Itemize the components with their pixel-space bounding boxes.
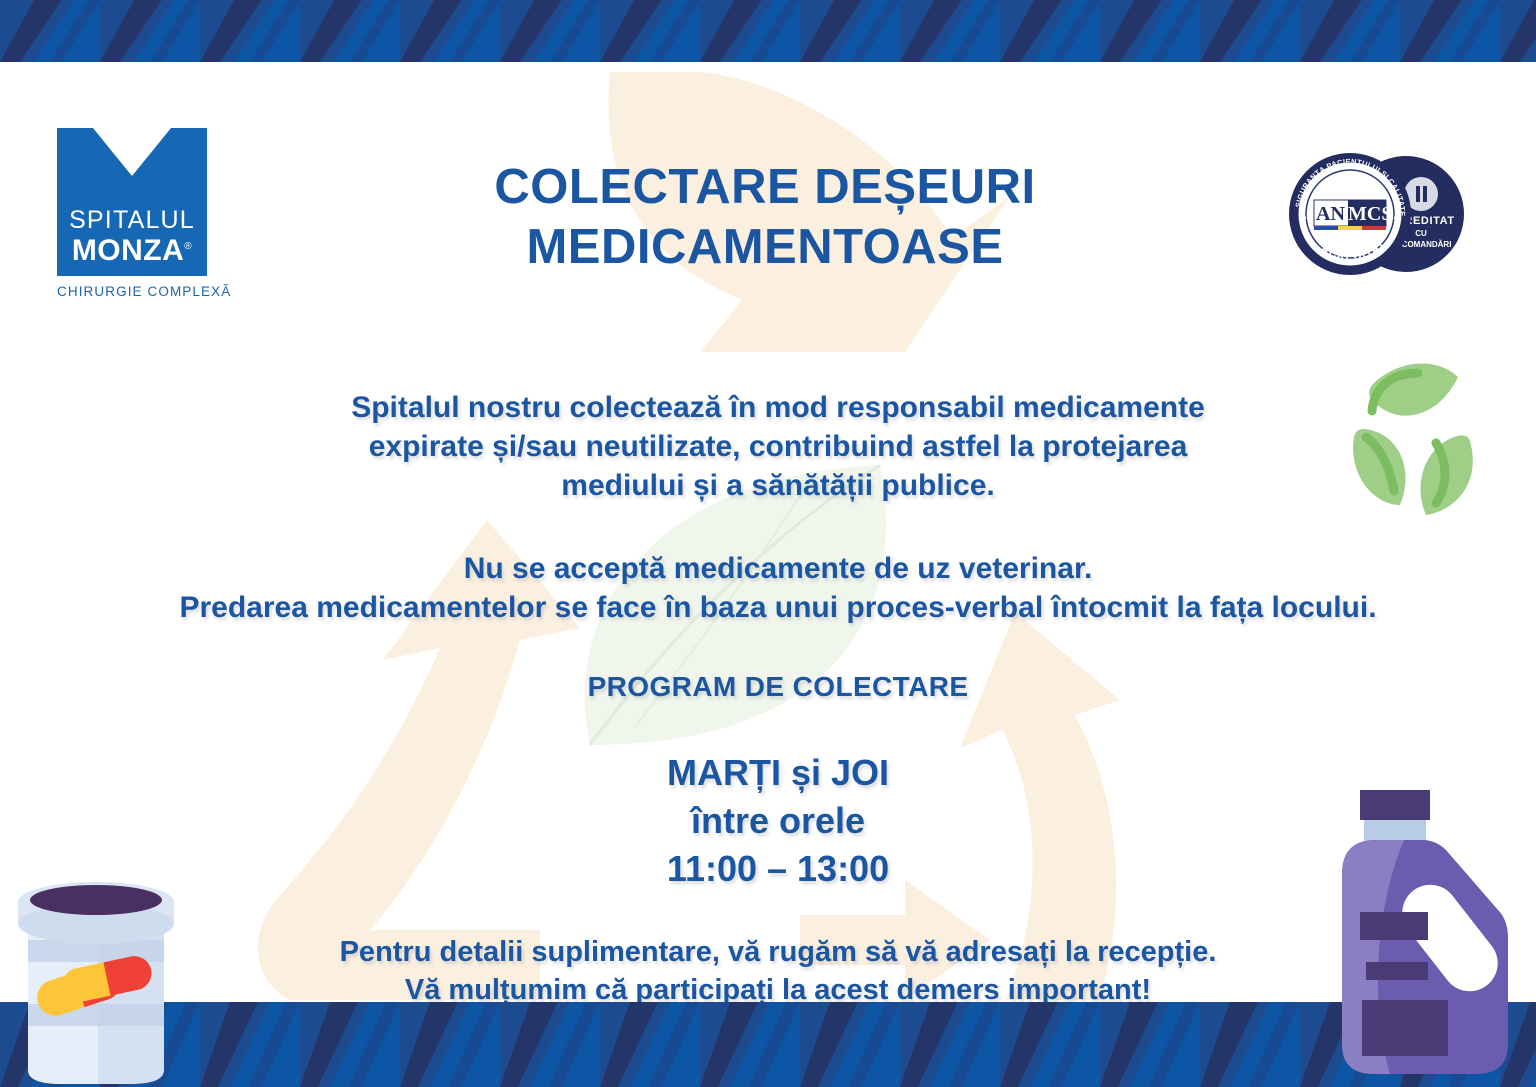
anmcs-wordmark: AN MCS <box>1314 200 1392 230</box>
schedule-hours: 11:00 – 13:00 <box>118 845 1438 893</box>
program-heading: PROGRAM DE COLECTARE <box>118 671 1438 703</box>
rules-line-1: Nu se acceptă medicamente de uz veterina… <box>118 549 1438 588</box>
rules-paragraph: Nu se acceptă medicamente de uz veterina… <box>118 549 1438 627</box>
anmcs-accreditation-badge: ACREDITAT CU RECOMANDĂRI SIGURANȚA PACIE… <box>1278 142 1478 287</box>
intro-paragraph: Spitalul nostru colectează în mod respon… <box>118 388 1438 505</box>
poster-root: SPITALUL MONZA® CHIRURGIE COMPLEXĂ ACRED… <box>0 0 1536 1087</box>
top-decorative-band <box>0 0 1536 62</box>
svg-text:MCS: MCS <box>1348 203 1392 225</box>
title-line-2: MEDICAMENTOASE <box>370 218 1160 278</box>
intro-line-2: expirate și/sau neutilizate, contribuind… <box>118 427 1438 466</box>
spacer-1 <box>118 505 1438 549</box>
chemical-container-illustration <box>1318 782 1528 1087</box>
logo-blue-box: SPITALUL MONZA® <box>57 128 207 276</box>
spacer-3 <box>118 703 1438 749</box>
title-line-1: COLECTARE DEȘEURI <box>370 158 1160 218</box>
logo-monza-word: MONZA <box>72 234 184 267</box>
intro-line-1: Spitalul nostru colectează în mod respon… <box>118 388 1438 427</box>
svg-text:CU: CU <box>1415 229 1427 238</box>
spacer-4 <box>118 893 1438 933</box>
svg-text:AN: AN <box>1316 203 1345 225</box>
body-copy: Spitalul nostru colectează în mod respon… <box>118 388 1438 1009</box>
footer-line-1: Pentru detalii suplimentare, vă rugăm să… <box>118 933 1438 971</box>
schedule-between-label: între orele <box>118 797 1438 845</box>
intro-line-3: mediului și a sănătății publice. <box>118 466 1438 505</box>
logo-registered-mark: ® <box>184 241 192 252</box>
logo-spitalul-text: SPITALUL <box>57 206 207 235</box>
bottom-decorative-band <box>0 1002 1536 1087</box>
logo-tagline: CHIRURGIE COMPLEXĂ <box>57 284 207 299</box>
footer-paragraph: Pentru detalii suplimentare, vă rugăm să… <box>118 933 1438 1010</box>
page-title: COLECTARE DEȘEURI MEDICAMENTOASE <box>370 158 1160 278</box>
schedule-days: MARȚI și JOI <box>118 749 1438 797</box>
top-band-zigzag-pattern <box>0 0 1536 62</box>
logo-monza-text: MONZA® <box>57 234 207 268</box>
pill-jar-illustration <box>6 862 196 1087</box>
hospital-logo: SPITALUL MONZA® CHIRURGIE COMPLEXĂ <box>57 128 207 299</box>
logo-m-notch-icon <box>57 128 207 182</box>
spacer-2 <box>118 627 1438 671</box>
schedule-block: MARȚI și JOI între orele 11:00 – 13:00 <box>118 749 1438 893</box>
bottom-band-zigzag-pattern <box>0 1002 1536 1087</box>
rules-line-2: Predarea medicamentelor se face în baza … <box>118 588 1438 627</box>
